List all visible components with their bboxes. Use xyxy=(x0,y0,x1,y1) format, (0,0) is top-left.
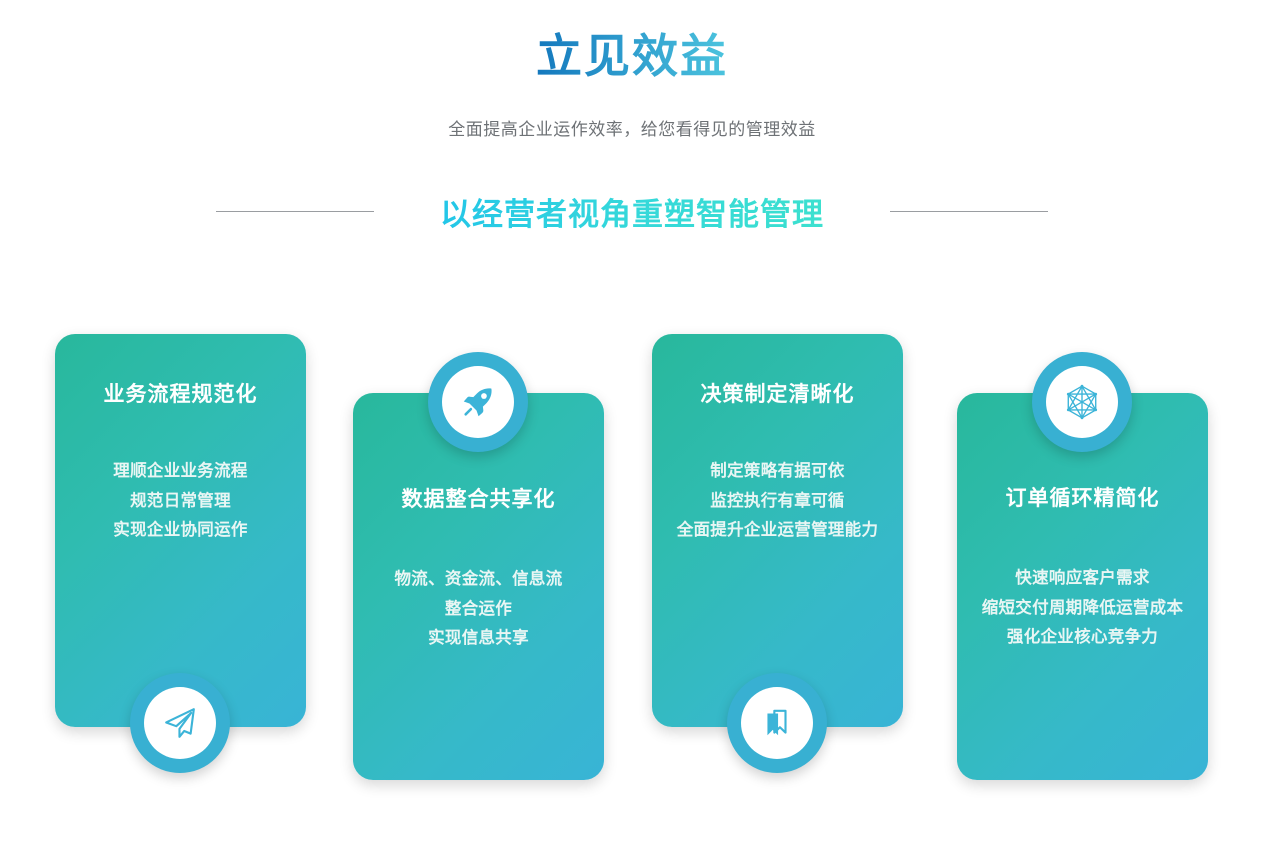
paper-plane-icon-badge[interactable] xyxy=(130,673,230,773)
network-hexagon-icon-badge[interactable] xyxy=(1032,352,1132,452)
bookmark-icon xyxy=(760,706,794,740)
feature-card-title: 业务流程规范化 xyxy=(71,381,290,408)
feature-card[interactable]: 决策制定清晰化 制定策略有据可依监控执行有章可循全面提升企业运营管理能力 xyxy=(652,334,903,727)
feature-card-description: 制定策略有据可依监控执行有章可循全面提升企业运营管理能力 xyxy=(668,457,887,545)
icon-badge-inner xyxy=(442,366,514,438)
feature-card-slot: 业务流程规范化 理顺企业业务流程规范日常管理实现企业协同运作 xyxy=(55,334,306,727)
bookmark-icon-badge[interactable] xyxy=(727,673,827,773)
page-header: 立见效益 全面提高企业运作效率，给您看得见的管理效益 以经营者视角重塑智能管理 xyxy=(0,0,1264,234)
page-title: 立见效益 xyxy=(536,28,728,86)
page-subtitle: 全面提高企业运作效率，给您看得见的管理效益 xyxy=(0,118,1264,142)
feature-card[interactable]: 业务流程规范化 理顺企业业务流程规范日常管理实现企业协同运作 xyxy=(55,334,306,727)
rocket-icon-badge[interactable] xyxy=(428,352,528,452)
feature-card-title: 决策制定清晰化 xyxy=(668,381,887,408)
rocket-icon xyxy=(461,385,495,419)
icon-badge-inner xyxy=(144,687,216,759)
paper-plane-icon xyxy=(163,706,197,740)
feature-cards-row: 业务流程规范化 理顺企业业务流程规范日常管理实现企业协同运作 数据整合共享化 物… xyxy=(55,334,1209,794)
feature-card-description: 快速响应客户需求缩短交付周期降低运营成本强化企业核心竞争力 xyxy=(973,564,1192,652)
feature-card-description: 物流、资金流、信息流整合运作实现信息共享 xyxy=(369,565,588,653)
icon-badge-inner xyxy=(741,687,813,759)
network-hexagon-icon xyxy=(1063,383,1101,421)
divider-line-right xyxy=(890,211,1048,212)
feature-card-slot: 决策制定清晰化 制定策略有据可依监控执行有章可循全面提升企业运营管理能力 xyxy=(652,334,903,727)
feature-card-description: 理顺企业业务流程规范日常管理实现企业协同运作 xyxy=(71,457,290,545)
divider-line-left xyxy=(216,211,374,212)
feature-card-slot: 数据整合共享化 物流、资金流、信息流整合运作实现信息共享 xyxy=(353,393,604,780)
section-heading-row: 以经营者视角重塑智能管理 xyxy=(0,189,1264,234)
feature-card-title: 订单循环精简化 xyxy=(973,485,1192,512)
section-heading: 以经营者视角重塑智能管理 xyxy=(440,189,824,234)
icon-badge-inner xyxy=(1046,366,1118,438)
feature-card-slot: 订单循环精简化 快速响应客户需求缩短交付周期降低运营成本强化企业核心竞争力 xyxy=(957,393,1208,780)
feature-card-title: 数据整合共享化 xyxy=(369,486,588,513)
